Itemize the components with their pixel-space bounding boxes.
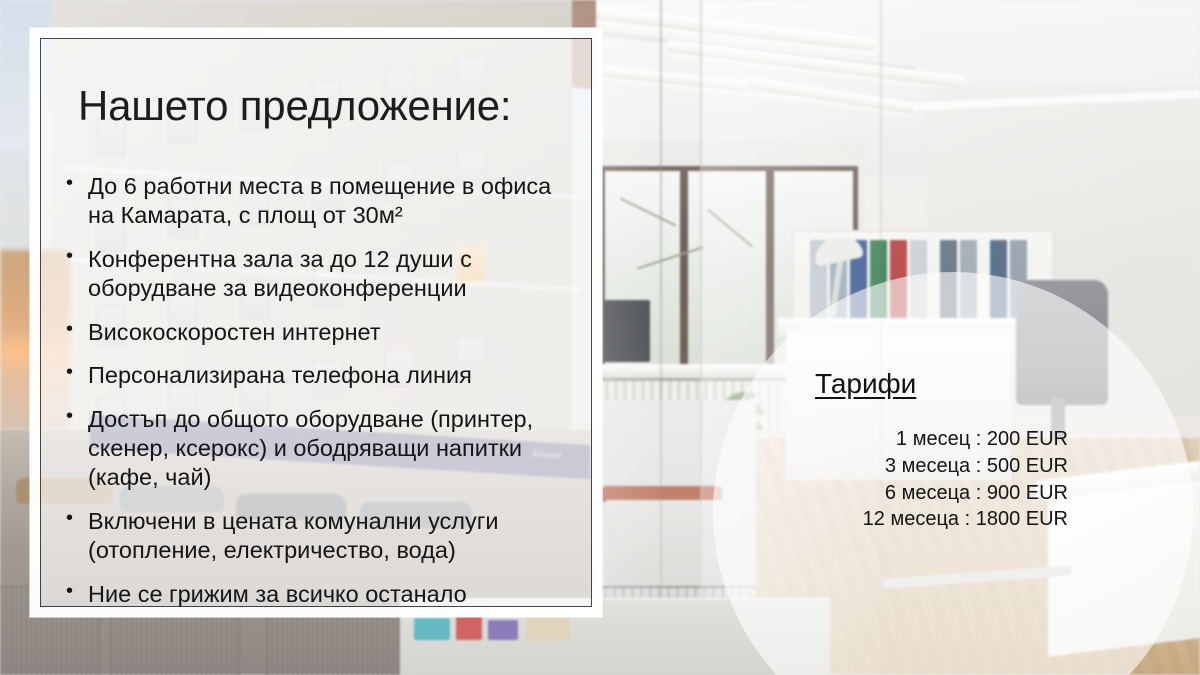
glass-partition-edge [700, 0, 702, 675]
rates-block: Тарифи 1 месец : 200 EUR 3 месеца : 500 … [760, 368, 1080, 533]
list-item: До 6 работни места в помещение в офиса н… [56, 172, 576, 230]
slide-canvas: Allianz [0, 0, 1200, 675]
rates-heading: Тарифи [815, 368, 1080, 400]
offer-bullet-list: До 6 работни места в помещение в офиса н… [56, 172, 576, 624]
list-item: Включени в цената комунални услуги (отоп… [56, 507, 576, 565]
rate-row: 1 месец : 200 EUR [760, 426, 1068, 453]
offer-card: Нашето предложение: До 6 работни места в… [30, 28, 602, 617]
list-item: Високоскоростен интернет [56, 318, 576, 347]
monitor [604, 300, 650, 362]
list-item: Достъп до общото оборудване (принтер, ск… [56, 405, 576, 492]
glass-partition-edge [660, 0, 662, 675]
page-title: Нашето предложение: [78, 82, 511, 130]
offer-card-inner: Нашето предложение: До 6 работни места в… [40, 38, 592, 607]
rates-list: 1 месец : 200 EUR 3 месеца : 500 EUR 6 м… [760, 426, 1080, 533]
list-item: Конферентна зала за до 12 души с оборудв… [56, 245, 576, 303]
list-item: Персонализирана телефона линия [56, 361, 576, 390]
list-item: Ние се грижим за всичко останало [56, 580, 576, 609]
rate-row: 6 месеца : 900 EUR [760, 480, 1068, 507]
rate-row: 3 месеца : 500 EUR [760, 453, 1068, 480]
rate-row: 12 месеца : 1800 EUR [760, 506, 1068, 533]
